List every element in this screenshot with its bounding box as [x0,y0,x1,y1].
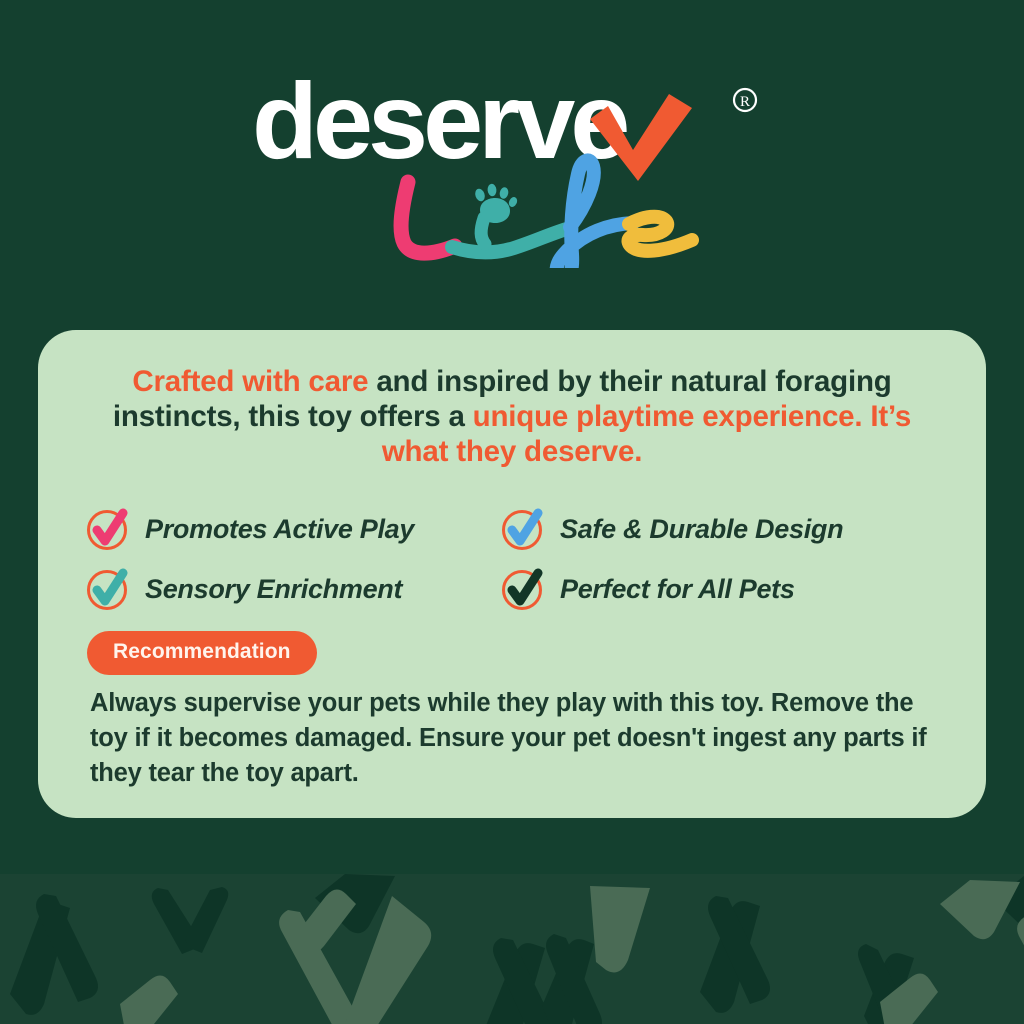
brand-logo: deserve R [0,78,1024,278]
headline-part-1: Crafted with care [132,365,368,398]
feature-item-perfect-for-all-pets: Perfect for All Pets [499,566,940,612]
check-circle-icon [499,506,545,552]
svg-text:R: R [740,94,750,110]
feature-item-promotes-active-play: Promotes Active Play [84,506,499,552]
headline: Crafted with care and inspired by their … [84,364,940,469]
trademark-icon: R [734,89,756,111]
feature-item-safe-durable-design: Safe & Durable Design [499,506,940,552]
recommendation-badge: Recommendation [87,631,317,675]
recommendation-body: Always supervise your pets while they pl… [90,686,940,791]
feature-list: Promotes Active Play Safe & Durable Desi… [84,499,940,619]
feature-label: Promotes Active Play [145,514,414,545]
check-circle-icon [84,566,130,612]
chevron-shapes [0,874,1024,1024]
logo-artwork: deserve R [252,78,772,268]
check-circle-icon [499,566,545,612]
feature-item-sensory-enrichment: Sensory Enrichment [84,566,499,612]
feature-label: Sensory Enrichment [145,574,402,605]
feature-label: Safe & Durable Design [560,514,843,545]
info-card: Crafted with care and inspired by their … [38,330,986,818]
check-circle-icon [84,506,130,552]
decorative-chevron-pattern [0,874,1024,1024]
wordmark-text: deserve [252,78,627,181]
feature-label: Perfect for All Pets [560,574,795,605]
